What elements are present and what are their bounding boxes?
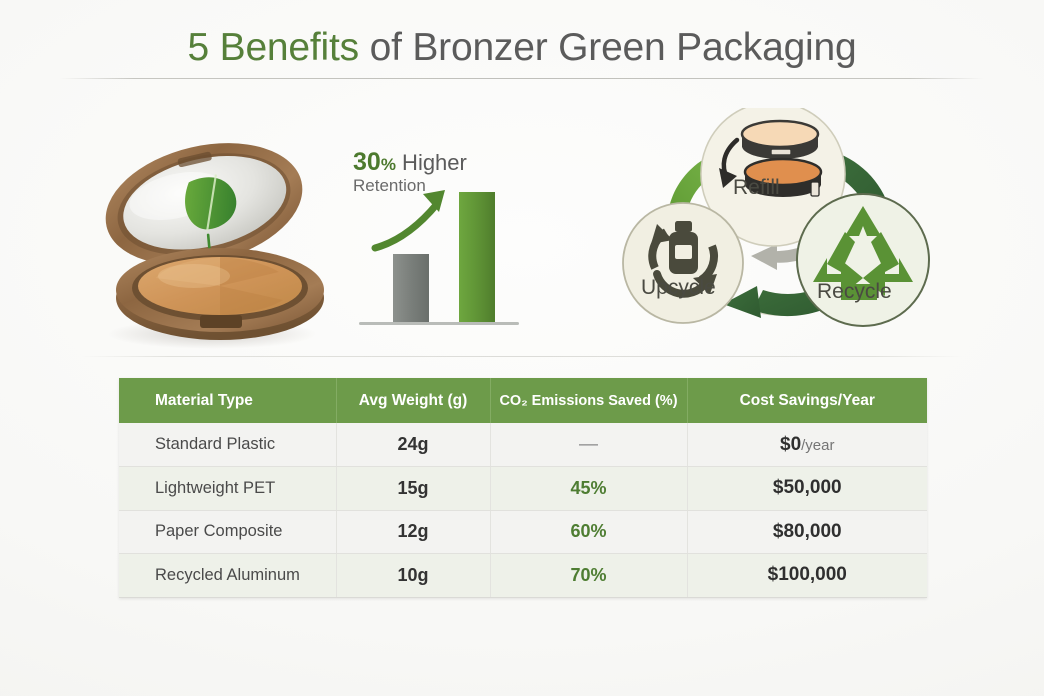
table-header-row: Material Type Avg Weight (g) CO₂ Emissio… (119, 378, 927, 423)
cell-cost: $80,000 (687, 510, 927, 554)
weight-value: 15g (397, 478, 428, 498)
column-header-weight: Avg Weight (g) (336, 378, 490, 423)
cell-weight: 24g (336, 423, 490, 467)
retention-bar-chart: 30% Higher Retention (345, 142, 545, 338)
upward-trend-arrow (375, 190, 445, 248)
column-header-material: Material Type (119, 378, 336, 423)
cost-amount: $80,000 (773, 521, 842, 542)
cost-value: $0/year (780, 434, 835, 455)
table-row: Lightweight PET 15g 45% $50,000 (119, 467, 927, 511)
cell-material: Paper Composite (119, 510, 336, 554)
packaging-lifecycle-diagram: Refill Upcycle Recycle (605, 108, 955, 348)
bar-standard (393, 254, 429, 322)
cell-co2: 60% (490, 510, 687, 554)
cost-value: $50,000 (773, 477, 842, 498)
page-title-accent: 5 Benefits (188, 26, 359, 69)
cell-cost: $100,000 (687, 554, 927, 598)
cell-weight: 10g (336, 554, 490, 598)
column-header-co2: CO₂ Emissions Saved (%) (490, 378, 687, 423)
weight-value: 12g (397, 521, 428, 541)
co2-value: 60% (570, 521, 606, 541)
page-header: 5 Benefits of Bronzer Green Packaging (0, 26, 1044, 70)
cost-suffix: /year (801, 437, 834, 454)
co2-value: 70% (570, 565, 606, 585)
section-divider (82, 356, 962, 357)
cell-material: Recycled Aluminum (119, 554, 336, 598)
cell-co2: 45% (490, 467, 687, 511)
title-divider (60, 78, 984, 79)
cell-material: Lightweight PET (119, 467, 336, 511)
cell-co2: — (490, 423, 687, 467)
cycle-label-refill: Refill (733, 176, 780, 200)
table-row: Paper Composite 12g 60% $80,000 (119, 510, 927, 554)
cost-value: $100,000 (768, 564, 847, 585)
page-title-rest: of Bronzer Green Packaging (359, 26, 857, 69)
table-body: Standard Plastic 24g — $0/year Lightweig… (119, 423, 927, 597)
table-row: Standard Plastic 24g — $0/year (119, 423, 927, 467)
cell-co2: 70% (490, 554, 687, 598)
table-head: Material Type Avg Weight (g) CO₂ Emissio… (119, 378, 927, 423)
weight-value: 10g (397, 565, 428, 585)
cell-material: Standard Plastic (119, 423, 336, 467)
cost-amount: $100,000 (768, 564, 847, 585)
compact-clasp (200, 315, 242, 328)
cost-amount: $50,000 (773, 477, 842, 498)
cost-amount: $0 (780, 434, 801, 455)
weight-value: 24g (397, 434, 428, 454)
cell-weight: 15g (336, 467, 490, 511)
cycle-label-upcycle: Upcycle (641, 276, 716, 300)
page-title: 5 Benefits of Bronzer Green Packaging (0, 26, 1044, 70)
cost-value: $80,000 (773, 521, 842, 542)
chart-baseline (359, 322, 519, 325)
cycle-label-recycle: Recycle (817, 280, 892, 304)
table-row: Recycled Aluminum 10g 70% $100,000 (119, 554, 927, 598)
cell-cost: $0/year (687, 423, 927, 467)
materials-comparison-table: Material Type Avg Weight (g) CO₂ Emissio… (119, 378, 927, 598)
cell-cost: $50,000 (687, 467, 927, 511)
bar-green-packaging (459, 192, 495, 322)
column-header-cost: Cost Savings/Year (687, 378, 927, 423)
compact-base (116, 248, 324, 340)
bronzer-compact-illustration (84, 112, 332, 350)
co2-value: — (579, 434, 598, 455)
cell-weight: 12g (336, 510, 490, 554)
co2-value: 45% (570, 478, 606, 498)
